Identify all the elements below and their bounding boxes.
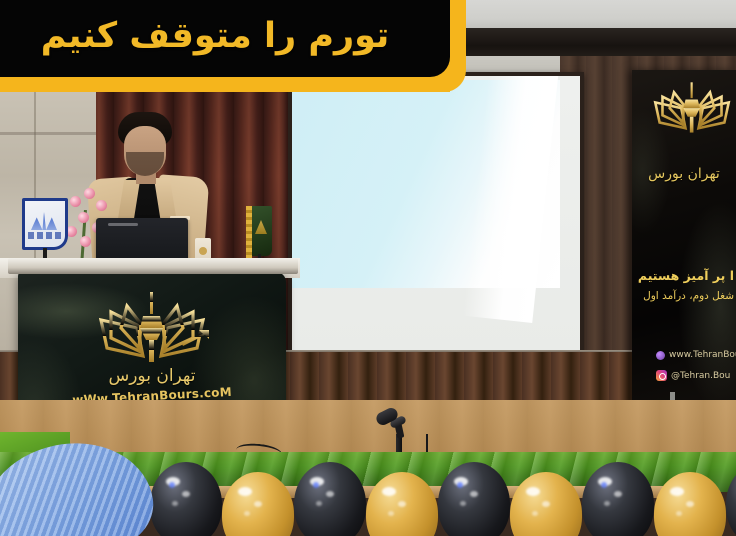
- rollup-instagram-row: @Tehran.Bou: [656, 370, 730, 381]
- podium-top-edge: [8, 258, 298, 274]
- rollup-brand-fa: تهران بورس: [632, 166, 736, 182]
- blossom: [70, 196, 81, 207]
- rollup-headline-fa: ا پر آمیز هستیم: [632, 268, 736, 283]
- left-wall-seam: [0, 132, 96, 135]
- headline-banner-underline: [0, 77, 450, 92]
- podium-brand-fa: تهران بورس: [67, 366, 237, 386]
- desk-flag: [22, 198, 68, 260]
- flag-fringe: [246, 206, 252, 262]
- blossom: [84, 188, 95, 199]
- desk-flag-text: [28, 232, 62, 239]
- rollup-logo-icon: [638, 78, 736, 178]
- blossom: [96, 200, 107, 211]
- rollup-website: www.TehranBours: [669, 350, 736, 360]
- balloon-black: [438, 462, 510, 536]
- headline-text: تورم را متوقف کنیم: [0, 0, 430, 77]
- projection-screen: [292, 76, 580, 354]
- rollup-subline-fa: شغل دوم، درآمد اول: [632, 290, 736, 302]
- tehran-bours-logo-icon: [77, 286, 227, 364]
- blossom: [80, 236, 91, 247]
- rollup-banner: تهران بورس ا پر آمیز هستیم شغل دوم، درآم…: [632, 70, 736, 406]
- globe-icon: [656, 351, 665, 360]
- projected-image: [292, 80, 560, 288]
- balloon-black: [294, 462, 366, 536]
- blossom: [78, 212, 89, 223]
- beard: [126, 152, 164, 176]
- rollup-website-row: www.TehranBours: [656, 350, 736, 360]
- balloon-black: [150, 462, 222, 536]
- instagram-icon: [656, 370, 667, 381]
- event-photo-screenshot: تهران بورس wWw.TehranBours.coM Tehran.Bo…: [0, 0, 736, 536]
- rollup-instagram-handle: @Tehran.Bou: [671, 371, 730, 381]
- balloon-black: [582, 462, 654, 536]
